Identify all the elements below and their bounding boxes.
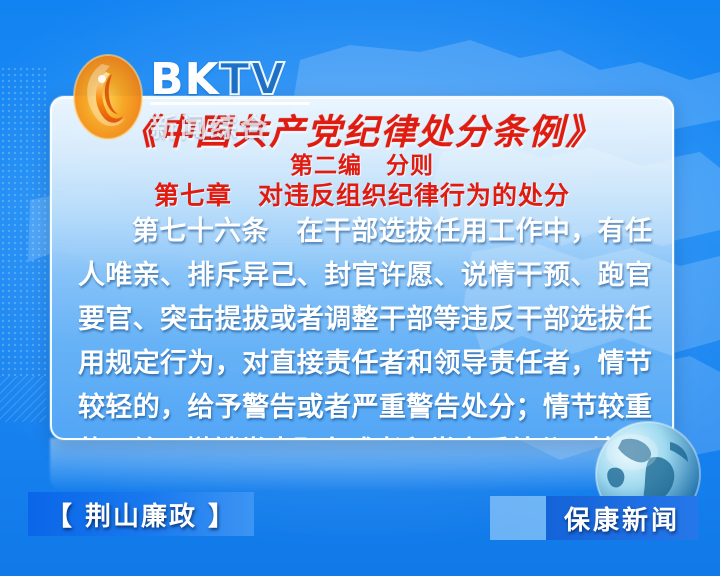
lower-third-right-tail [490, 496, 548, 540]
subtitle-chapter: 第七章 对违反组织纪律行为的处分 [52, 176, 672, 212]
lower-third-left-label: 【 荆山廉政 】 [46, 496, 236, 533]
article-body: 第七十六条 在干部选拔任用工作中，有任人唯亲、排斥异己、封官许愿、说情干预、跑官… [78, 210, 652, 440]
article-paragraph: 第七十六条 在干部选拔任用工作中，有任人唯亲、排斥异己、封官许愿、说情干预、跑官… [78, 210, 652, 440]
lower-third-right: 保康新闻 [546, 496, 698, 540]
lower-third-right-label: 保康新闻 [564, 500, 680, 537]
dot-matrix-decoration [0, 66, 46, 376]
panel-reflection [50, 438, 670, 492]
subtitle-part: 第二编 分则 [52, 146, 672, 180]
hatch-decoration [0, 376, 46, 422]
broadcast-screen: 《中国共产党纪律处分条例》 第二编 分则 第七章 对违反组织纪律行为的处分 第七… [0, 0, 720, 576]
content-panel: 《中国共产党纪律处分条例》 第二编 分则 第七章 对违反组织纪律行为的处分 第七… [50, 96, 674, 440]
lower-third-left: 【 荆山廉政 】 [28, 492, 254, 536]
